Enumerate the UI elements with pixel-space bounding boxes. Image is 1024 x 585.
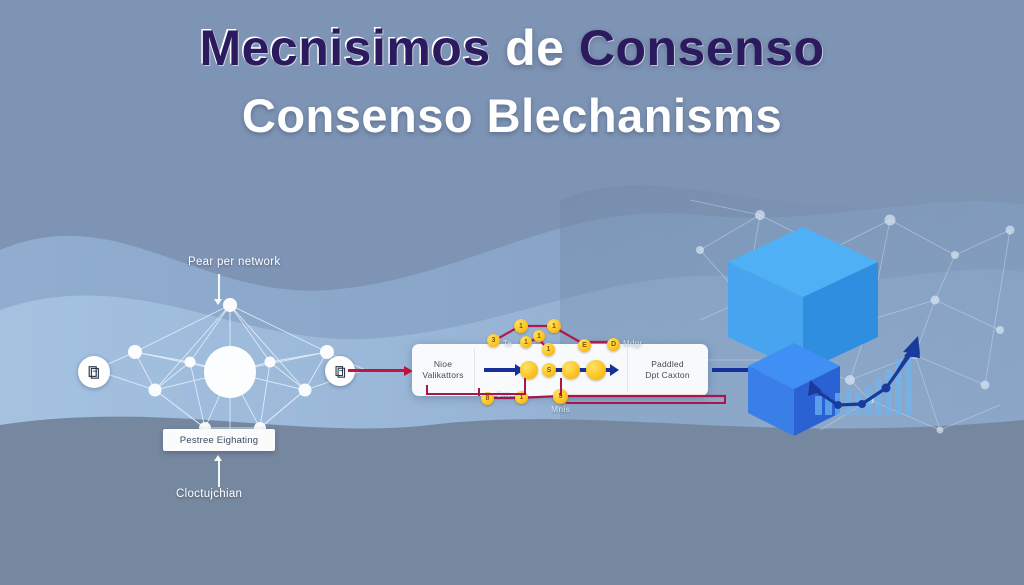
peer-network-label: Pear per network [188, 256, 280, 268]
bottom-caption: Cloctujchian [176, 488, 242, 500]
flow-arrow-1 [484, 368, 516, 372]
flow-left-line1: Nioe [434, 359, 452, 369]
peer-network-pointer-line [218, 274, 220, 300]
lower-token-links [478, 386, 728, 422]
growth-trend-arrow [800, 312, 930, 422]
bottom-pointer-line [218, 459, 220, 487]
document-icon [87, 365, 101, 379]
flow-left-box: Nioe Valikattors [412, 344, 474, 396]
node-badge-left[interactable] [78, 356, 110, 388]
upper-token-2: 1 [547, 319, 561, 333]
upper-token-1: 1 [514, 319, 528, 333]
red-connector-d [524, 378, 526, 395]
lower-chain-label-center: Mnis [551, 404, 570, 414]
illustration-canvas: Mecnisimos de Consenso Consenso Blechani… [0, 0, 1024, 585]
red-connector-c [426, 393, 526, 395]
upper-token-4: 1 [520, 336, 532, 348]
upper-token-3: 3 [487, 334, 500, 347]
panel-divider-left [474, 348, 475, 392]
red-connector-h [566, 402, 726, 404]
upper-token-6: 1 [542, 343, 555, 356]
bottom-pointer-head [214, 455, 222, 461]
document-icon [334, 365, 347, 378]
upper-chain-label-small: Te [503, 339, 512, 348]
upper-token-e: E [578, 339, 591, 352]
flow-right-line2: Dpt Caxton [645, 370, 690, 380]
upper-token-d: D [607, 338, 620, 351]
red-flow-arrow-in [348, 369, 406, 372]
peer-network-pointer-head [214, 299, 222, 305]
red-connector-f [560, 390, 562, 396]
upper-token-5: 1 [533, 330, 545, 342]
flow-left-line2: Valikattors [422, 370, 463, 380]
upper-chain-label-right: Mdgr [623, 339, 642, 348]
bottom-info-box[interactable]: Pestree Eighating [163, 429, 275, 451]
flow-right-line1: Paddled [651, 359, 684, 369]
